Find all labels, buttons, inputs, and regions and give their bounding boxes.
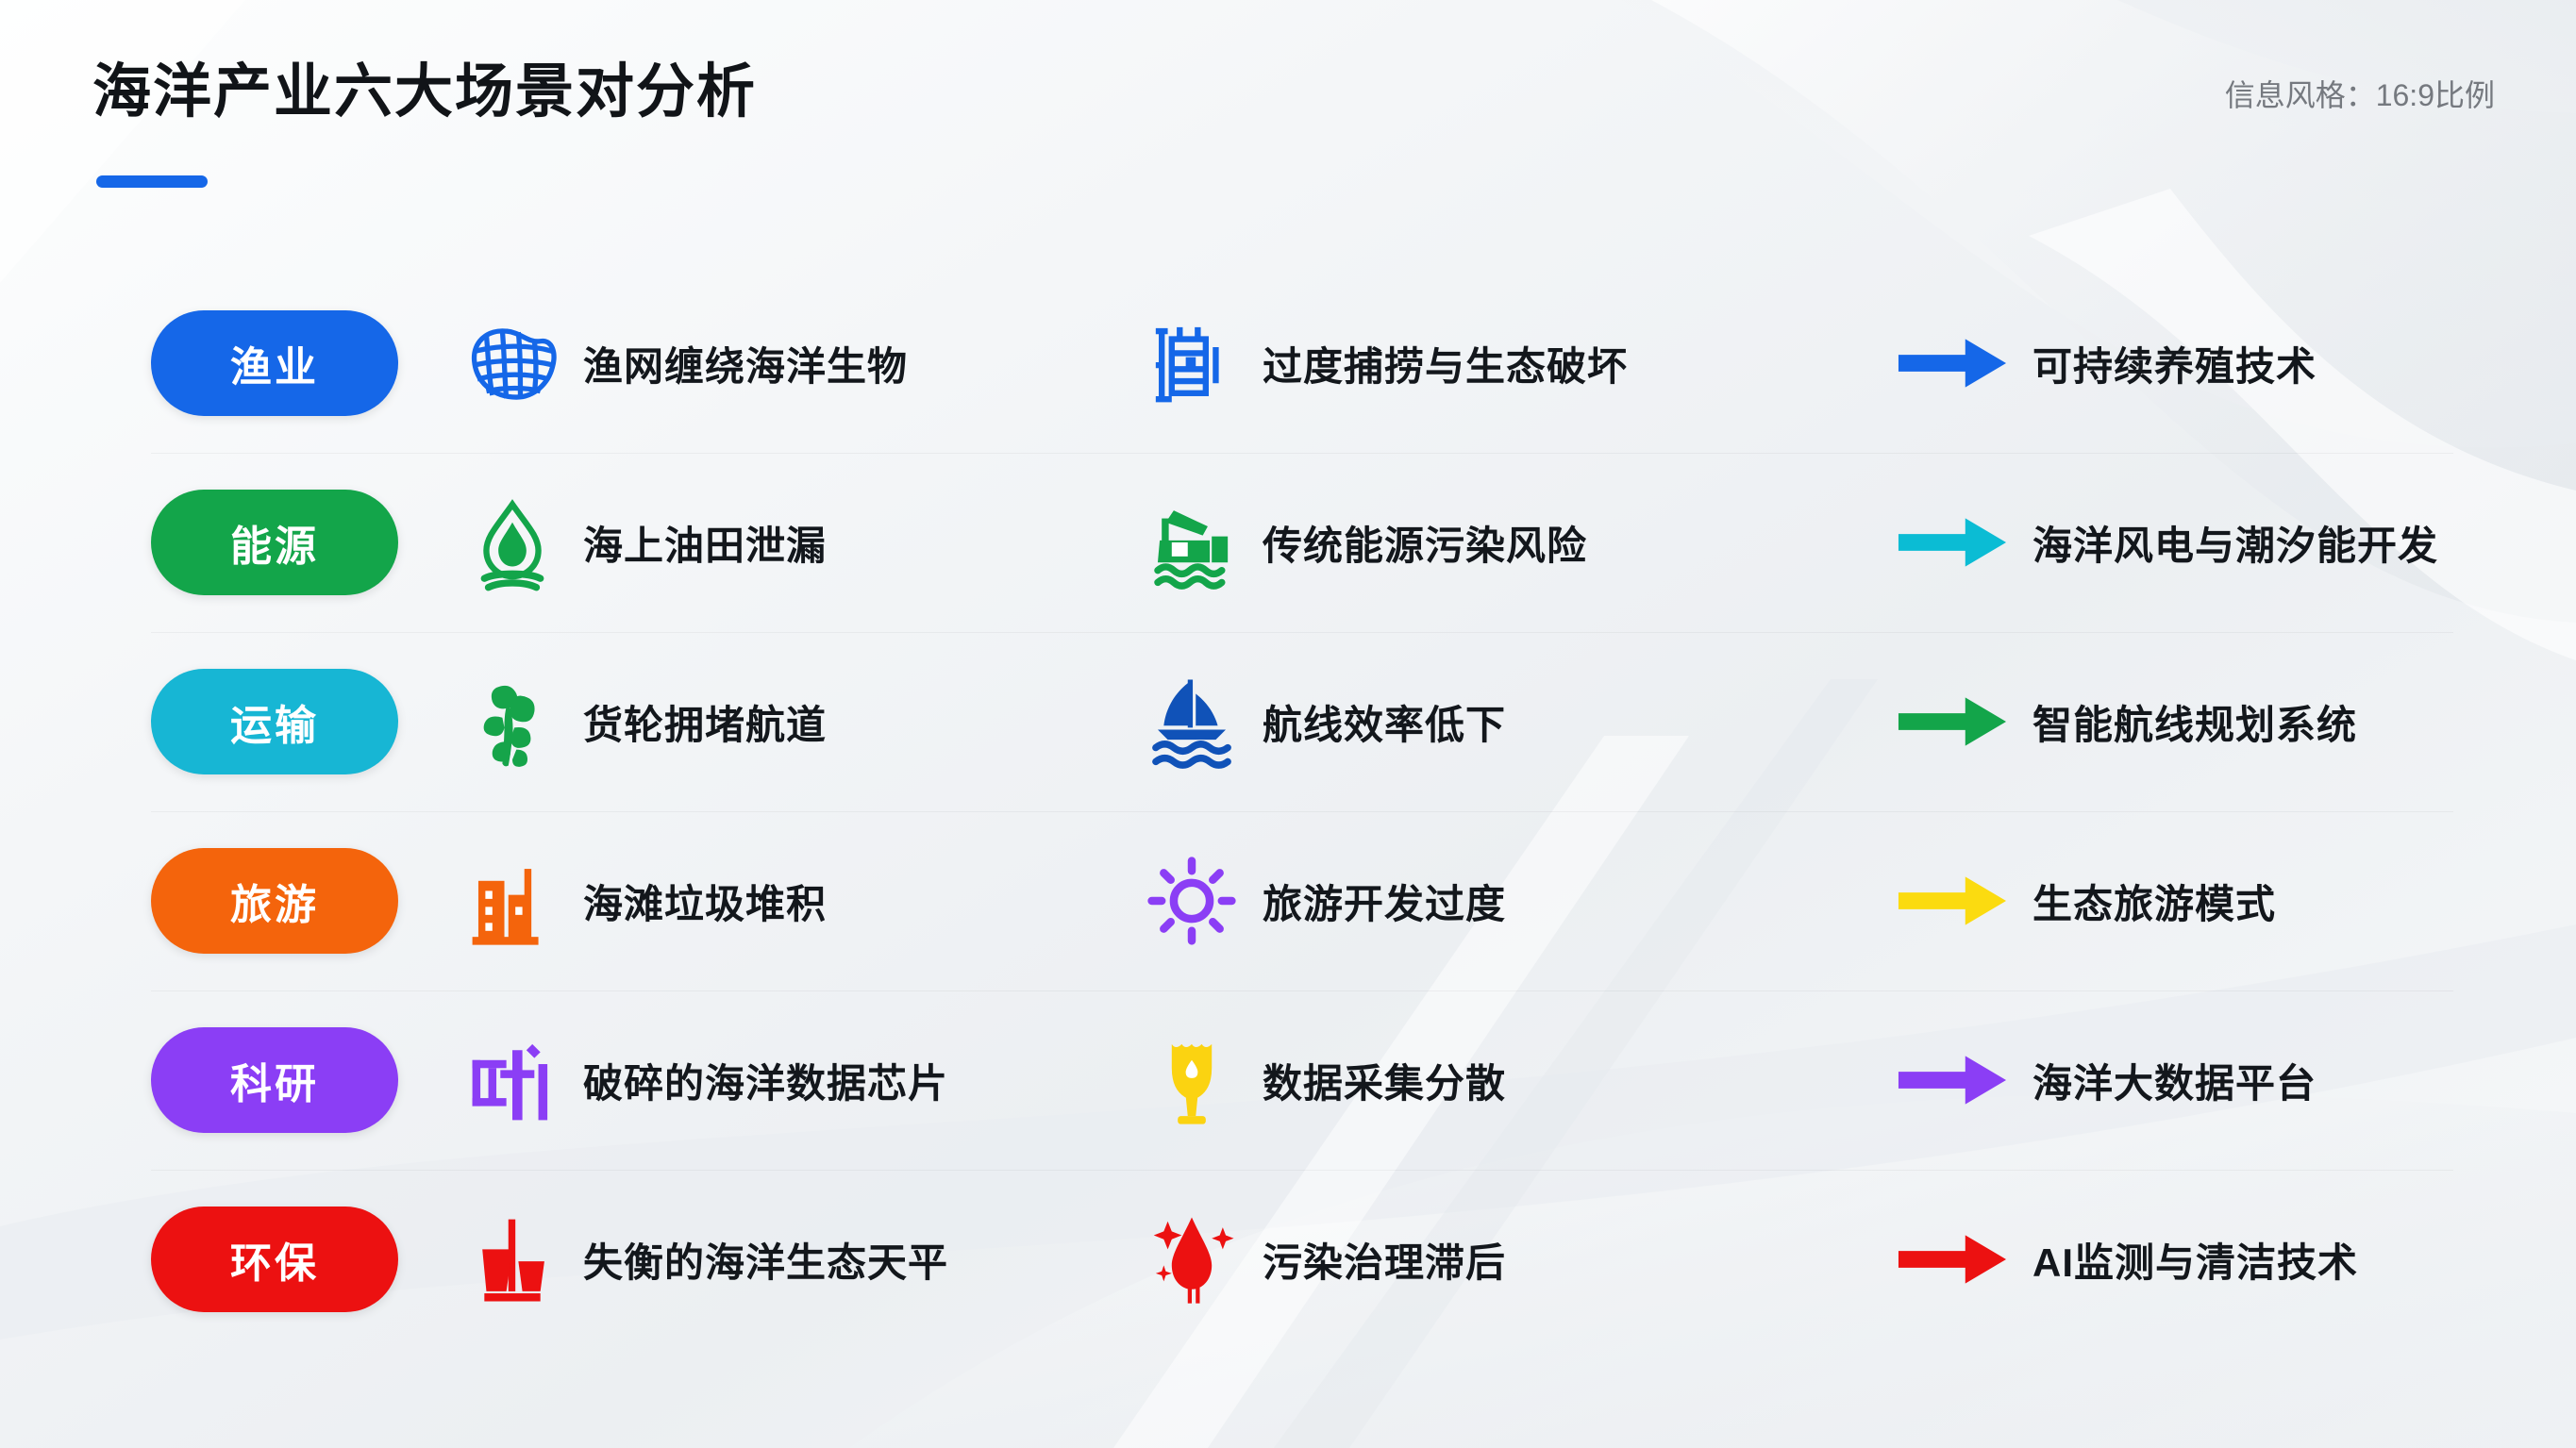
solution-label: 智能航线规划系统	[2032, 693, 2357, 751]
impact-label: 传统能源污染风险	[1263, 514, 1587, 572]
sector-badge-0[interactable]: 渔业	[151, 310, 398, 416]
problem-label: 失衡的海洋生态天平	[583, 1231, 948, 1289]
problem-label: 海滩垃圾堆积	[583, 873, 827, 930]
impact-cell: 传统能源污染风险	[1142, 492, 1897, 592]
arrow-right-icon	[1897, 693, 2008, 750]
scenario-row: 运输 货轮拥堵航道	[0, 632, 2576, 811]
blood-drop-sparkle-icon	[1142, 1209, 1242, 1309]
beach-buildings-icon	[462, 851, 562, 951]
seaweed-plant-icon	[462, 672, 562, 772]
problem-cell: 破碎的海洋数据芯片	[462, 1030, 1142, 1130]
problem-cell: 渔网缠绕海洋生物	[462, 313, 1142, 413]
impact-cell: 旅游开发过度	[1142, 851, 1897, 951]
oil-droplet-icon	[462, 492, 562, 592]
sector-badge-label: 旅游	[230, 871, 319, 931]
solution-cell: 智能航线规划系统	[1897, 693, 2576, 751]
solution-cell: 海洋风电与潮汐能开发	[1897, 514, 2576, 572]
problem-cell: 失衡的海洋生态天平	[462, 1209, 1142, 1309]
fishing-net-icon	[462, 313, 562, 413]
sailboat-icon	[1142, 672, 1242, 772]
arrow-right-icon	[1897, 1231, 2008, 1288]
sector-badge-1[interactable]: 能源	[151, 490, 398, 595]
solution-label: AI监测与清洁技术	[2032, 1231, 2358, 1289]
solution-label: 可持续养殖技术	[2032, 335, 2317, 392]
impact-label: 污染治理滞后	[1263, 1231, 1506, 1289]
balance-scale-icon	[462, 1209, 562, 1309]
problem-label: 海上油田泄漏	[583, 514, 827, 572]
sector-badge-4[interactable]: 科研	[151, 1027, 398, 1133]
sector-badge-label: 科研	[230, 1050, 319, 1110]
slide-canvas: 海洋产业六大场景对分析 信息风格：16:9比例 渔业 渔网缠绕海洋生物	[0, 0, 2576, 1448]
arrow-right-icon	[1897, 335, 2008, 391]
scenario-row: 渔业 渔网缠绕海洋生物 过度捕捞与生态破坏 可持续养殖技术	[0, 274, 2576, 453]
solution-label: 海洋大数据平台	[2032, 1052, 2317, 1109]
scenario-row: 旅游 海滩垃圾堆积	[0, 811, 2576, 990]
solution-cell: 可持续养殖技术	[1897, 335, 2576, 392]
impact-cell: 航线效率低下	[1142, 672, 1897, 772]
problem-cell: 海滩垃圾堆积	[462, 851, 1142, 951]
scenario-row: 环保 失衡的海洋生态天平 污染治理滞后 AI监测与清洁	[0, 1170, 2576, 1349]
sector-badge-label: 渔业	[230, 333, 319, 393]
sector-badge-label: 能源	[230, 512, 319, 573]
sun-icon	[1142, 851, 1242, 951]
problem-cell: 货轮拥堵航道	[462, 672, 1142, 772]
oil-rig-boat-icon	[1142, 492, 1242, 592]
solution-label: 生态旅游模式	[2032, 873, 2276, 930]
impact-cell: 过度捕捞与生态破坏	[1142, 313, 1897, 413]
title-accent-rule	[96, 175, 208, 188]
ratio-note: 信息风格：16:9比例	[2225, 72, 2495, 115]
impact-label: 航线效率低下	[1263, 693, 1506, 751]
sector-badge-2[interactable]: 运输	[151, 669, 398, 774]
problem-cell: 海上油田泄漏	[462, 492, 1142, 592]
scenario-rows: 渔业 渔网缠绕海洋生物 过度捕捞与生态破坏 可持续养殖技术	[0, 274, 2576, 1349]
impact-label: 过度捕捞与生态破坏	[1263, 335, 1628, 392]
trophy-shield-icon	[1142, 1030, 1242, 1130]
sector-badge-label: 运输	[230, 691, 319, 752]
research-glyph-icon	[462, 1030, 562, 1130]
sector-badge-label: 环保	[230, 1229, 319, 1290]
arrow-right-icon	[1897, 514, 2008, 571]
slide-header: 海洋产业六大场景对分析 信息风格：16:9比例	[0, 0, 2576, 226]
problem-label: 破碎的海洋数据芯片	[583, 1052, 948, 1109]
impact-cell: 数据采集分散	[1142, 1030, 1897, 1130]
page-title: 海洋产业六大场景对分析	[92, 43, 757, 128]
sector-badge-3[interactable]: 旅游	[151, 848, 398, 954]
arrow-right-icon	[1897, 1052, 2008, 1108]
arrow-right-icon	[1897, 873, 2008, 929]
scenario-row: 科研 破碎的海洋数据芯片 数据采集分散	[0, 990, 2576, 1170]
sector-badge-5[interactable]: 环保	[151, 1207, 398, 1312]
impact-cell: 污染治理滞后	[1142, 1209, 1897, 1309]
scenario-row: 能源 海上油田泄漏 传统能源污染风险	[0, 453, 2576, 632]
solution-label: 海洋风电与潮汐能开发	[2032, 514, 2438, 572]
impact-label: 数据采集分散	[1263, 1052, 1506, 1109]
solution-cell: 海洋大数据平台	[1897, 1052, 2576, 1109]
problem-label: 渔网缠绕海洋生物	[583, 335, 908, 392]
solution-cell: 生态旅游模式	[1897, 873, 2576, 930]
impact-label: 旅游开发过度	[1263, 873, 1506, 930]
solution-cell: AI监测与清洁技术	[1897, 1231, 2576, 1289]
problem-label: 货轮拥堵航道	[583, 693, 827, 751]
factory-trawler-icon	[1142, 313, 1242, 413]
